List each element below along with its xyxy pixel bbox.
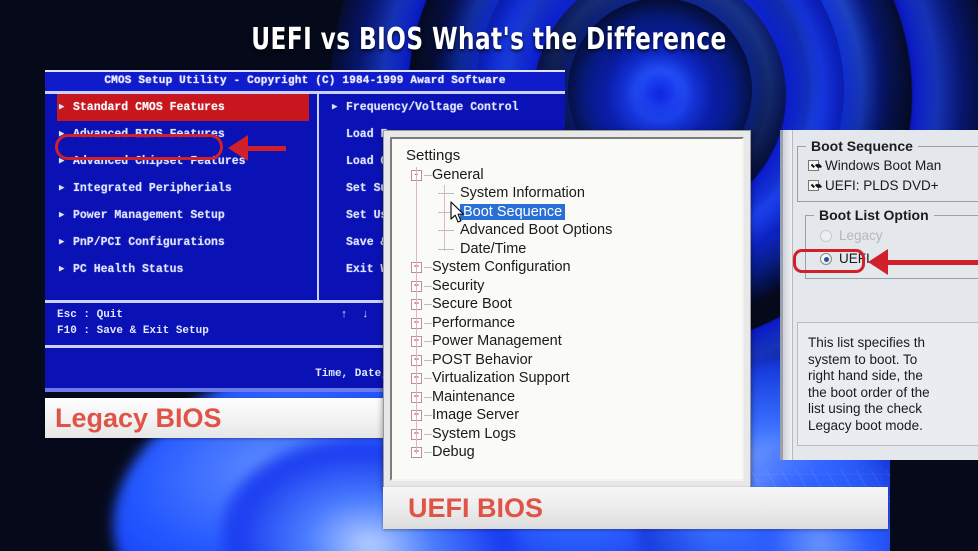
checkbox-icon[interactable] bbox=[808, 160, 819, 171]
caption-legacy-bios: Legacy BIOS bbox=[45, 398, 393, 438]
tree-connector-line bbox=[438, 249, 454, 250]
bios-menu-item-label: Save & bbox=[346, 236, 387, 249]
tree-root-label: Settings bbox=[406, 147, 460, 164]
tree-item-security[interactable]: +Security bbox=[402, 277, 726, 296]
boot-item-uefi-plds-dvd[interactable]: UEFI: PLDS DVD+ bbox=[808, 177, 939, 194]
tree-item-label: Image Server bbox=[432, 407, 519, 423]
caption-uefi-bios: UEFI BIOS bbox=[383, 487, 888, 529]
boot-description-line: the boot order of the bbox=[808, 385, 978, 402]
bios-menu-item-label: PnP/PCI Configurations bbox=[73, 236, 225, 249]
tree-connector-line bbox=[424, 341, 432, 342]
tree-item-boot-sequence[interactable]: Boot Sequence bbox=[402, 203, 726, 222]
tree-item-label: Power Management bbox=[432, 333, 562, 349]
tree-item-general[interactable]: -General bbox=[402, 166, 726, 185]
boot-description-line: list using the check bbox=[808, 401, 978, 418]
tree-connector-line bbox=[424, 378, 432, 379]
page-title: UEFI vs BIOS What's the Difference bbox=[68, 22, 909, 57]
tree-item-system-logs[interactable]: +System Logs bbox=[402, 425, 726, 444]
caret-right-icon: ▶ bbox=[59, 94, 64, 121]
boot-panel-scrollbar[interactable] bbox=[783, 130, 793, 460]
tree-item-post-behavior[interactable]: +POST Behavior bbox=[402, 351, 726, 370]
boot-description-line: system to boot. To bbox=[808, 352, 978, 369]
caret-right-icon: ▶ bbox=[59, 121, 64, 148]
bios-menu-item-standard-cmos-features[interactable]: ▶Standard CMOS Features bbox=[57, 94, 309, 121]
bios-menu-item-advanced-chipset-features[interactable]: ▶Advanced Chipset Features bbox=[57, 148, 309, 175]
boot-item-label: Windows Boot Man bbox=[825, 158, 941, 173]
boot-description-box: This list specifies thsystem to boot. To… bbox=[797, 322, 978, 446]
bios-menu-item-frequency-voltage-control[interactable]: ▶Frequency/Voltage Control bbox=[330, 94, 560, 121]
radio-option-legacy[interactable]: Legacy bbox=[820, 227, 883, 244]
tree-item-system-information[interactable]: System Information bbox=[402, 184, 726, 203]
tree-root-settings[interactable]: Settings bbox=[402, 147, 726, 166]
tree-connector-line bbox=[438, 212, 454, 213]
boot-list-option-fieldset: Boot List Option Legacy UEFI bbox=[805, 215, 978, 279]
screenshot-canvas: UEFI vs BIOS What's the Difference CMOS … bbox=[0, 0, 978, 551]
uefi-settings-dialog: Settings-GeneralSystem InformationBoot S… bbox=[383, 130, 751, 488]
bios-menu-item-label: Power Management Setup bbox=[73, 209, 225, 222]
tree-item-power-management[interactable]: +Power Management bbox=[402, 332, 726, 351]
tree-item-label: Boot Sequence bbox=[460, 204, 565, 220]
bios-menu-left-column: ▶Standard CMOS Features▶Advanced BIOS Fe… bbox=[57, 94, 309, 283]
tree-item-label: Maintenance bbox=[432, 389, 515, 405]
tree-item-debug[interactable]: +Debug bbox=[402, 443, 726, 462]
bios-menu-item-power-management-setup[interactable]: ▶Power Management Setup bbox=[57, 202, 309, 229]
boot-sequence-legend: Boot Sequence bbox=[806, 138, 918, 154]
bios-menu-item-label: Frequency/Voltage Control bbox=[346, 101, 519, 114]
tree-item-label: General bbox=[432, 167, 484, 183]
bios-menu-item-label: Integrated Peripherials bbox=[73, 182, 232, 195]
tree-connector-line bbox=[424, 304, 432, 305]
tree-connector-line bbox=[424, 175, 432, 176]
boot-sequence-panel: Boot Sequence Windows Boot Man UEFI: PLD… bbox=[780, 130, 978, 460]
tree-item-label: Virtualization Support bbox=[432, 370, 570, 386]
uefi-settings-tree-container: Settings-GeneralSystem InformationBoot S… bbox=[390, 137, 744, 481]
bios-menu-item-integrated-peripherials[interactable]: ▶Integrated Peripherials bbox=[57, 175, 309, 202]
boot-item-windows-boot-manager[interactable]: Windows Boot Man bbox=[808, 157, 941, 174]
bios-menu-item-label: Advanced Chipset Features bbox=[73, 155, 246, 168]
boot-list-option-legend: Boot List Option bbox=[814, 207, 934, 223]
caret-right-icon: ▶ bbox=[59, 229, 64, 256]
tree-connector-line bbox=[424, 267, 432, 268]
radio-label: Legacy bbox=[839, 228, 883, 243]
bios-menu-item-label: PC Health Status bbox=[73, 263, 183, 276]
tree-item-label: Secure Boot bbox=[432, 296, 512, 312]
tree-item-maintenance[interactable]: +Maintenance bbox=[402, 388, 726, 407]
tree-item-performance[interactable]: +Performance bbox=[402, 314, 726, 333]
tree-item-label: Security bbox=[432, 278, 484, 294]
tree-connector-line bbox=[424, 434, 432, 435]
tree-connector-line bbox=[424, 415, 432, 416]
tree-connector-line bbox=[424, 397, 432, 398]
tree-item-label: Performance bbox=[432, 315, 515, 331]
tree-connector-line bbox=[438, 230, 454, 231]
bios-menu-item-pc-health-status[interactable]: ▶PC Health Status bbox=[57, 256, 309, 283]
bios-menu-item-label: Advanced BIOS Features bbox=[73, 128, 225, 141]
caret-right-icon: ▶ bbox=[332, 94, 337, 121]
radio-option-uefi[interactable]: UEFI bbox=[820, 250, 870, 267]
boot-description-line: Legacy boot mode. bbox=[808, 418, 978, 435]
tree-item-label: Debug bbox=[432, 444, 475, 460]
radio-icon[interactable] bbox=[820, 253, 832, 265]
boot-description-line: This list specifies th bbox=[808, 335, 978, 352]
bios-menu-item-advanced-bios-features[interactable]: ▶Advanced BIOS Features bbox=[57, 121, 309, 148]
tree-connector-line bbox=[424, 360, 432, 361]
boot-item-label: UEFI: PLDS DVD+ bbox=[825, 178, 939, 193]
tree-connector-line bbox=[424, 286, 432, 287]
uefi-settings-tree[interactable]: Settings-GeneralSystem InformationBoot S… bbox=[402, 147, 726, 462]
tree-branch-line bbox=[444, 185, 445, 251]
tree-trunk-line bbox=[416, 167, 417, 454]
tree-item-system-configuration[interactable]: +System Configuration bbox=[402, 258, 726, 277]
tree-item-label: System Configuration bbox=[432, 259, 571, 275]
tree-item-label: Date/Time bbox=[460, 241, 526, 257]
tree-connector-line bbox=[438, 193, 454, 194]
bios-column-divider bbox=[317, 94, 319, 300]
caret-right-icon: ▶ bbox=[59, 175, 64, 202]
tree-item-image-server[interactable]: +Image Server bbox=[402, 406, 726, 425]
radio-icon[interactable] bbox=[820, 230, 832, 242]
bios-menu-item-pnp-pci-configurations[interactable]: ▶PnP/PCI Configurations bbox=[57, 229, 309, 256]
tree-item-advanced-boot-options[interactable]: Advanced Boot Options bbox=[402, 221, 726, 240]
tree-item-label: POST Behavior bbox=[432, 352, 532, 368]
radio-label: UEFI bbox=[839, 251, 870, 266]
bios-header-title: CMOS Setup Utility - Copyright (C) 1984-… bbox=[45, 72, 565, 91]
tree-item-label: System Logs bbox=[432, 426, 516, 442]
boot-sequence-fieldset: Boot Sequence Windows Boot Man UEFI: PLD… bbox=[797, 146, 978, 202]
caret-right-icon: ▶ bbox=[59, 256, 64, 283]
bios-menu-item-label: Standard CMOS Features bbox=[73, 101, 225, 114]
tree-item-date-time[interactable]: Date/Time bbox=[402, 240, 726, 259]
tree-item-virtualization-support[interactable]: +Virtualization Support bbox=[402, 369, 726, 388]
caret-right-icon: ▶ bbox=[59, 148, 64, 175]
tree-item-secure-boot[interactable]: +Secure Boot bbox=[402, 295, 726, 314]
checkbox-icon[interactable] bbox=[808, 180, 819, 191]
boot-description-line: right hand side, the bbox=[808, 368, 978, 385]
caret-right-icon: ▶ bbox=[59, 202, 64, 229]
tree-item-label: System Information bbox=[460, 185, 585, 201]
tree-connector-line bbox=[424, 452, 432, 453]
tree-connector-line bbox=[424, 323, 432, 324]
tree-item-label: Advanced Boot Options bbox=[460, 222, 612, 238]
